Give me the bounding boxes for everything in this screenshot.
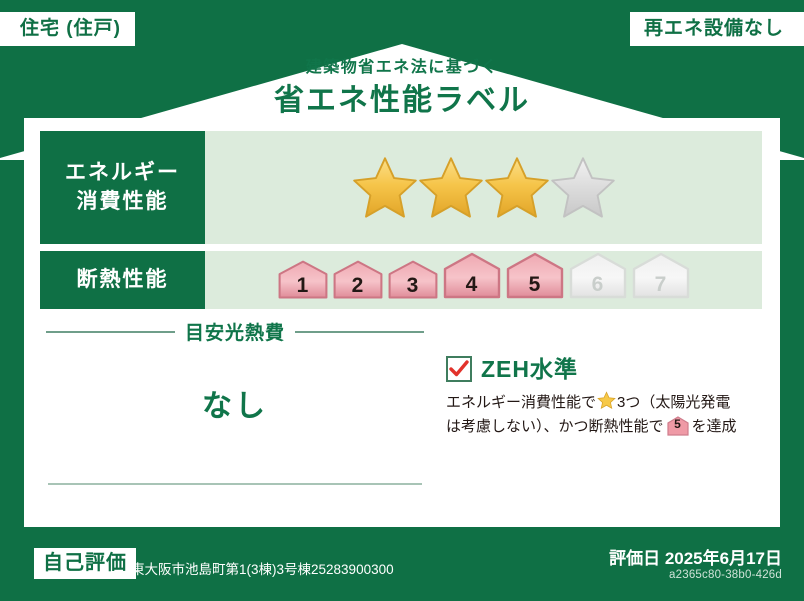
star-icon-filled [484, 155, 550, 221]
lower-section: 目安光熱費 なし ZEH水準 エネルギー消費性能で3つ（太陽光 [40, 318, 764, 513]
insulation-grade-2: 2 [332, 260, 384, 305]
tag-building-type: 住宅 (住戸) [0, 12, 135, 46]
energy-performance-label: 住宅 (住戸) 再エネ設備なし 建築物省エネ法に基づく 省エネ性能ラベル エネル… [0, 0, 804, 601]
row-energy-value [205, 131, 762, 244]
star-icon-filled [418, 155, 484, 221]
inline-grade-house-icon: 5 [667, 416, 689, 436]
zeh-desc-part1: エネルギー消費性能で [446, 394, 596, 411]
insulation-grade-5: 5 [505, 252, 565, 305]
insulation-grade-1: 1 [277, 260, 329, 305]
star-rating [352, 155, 616, 221]
insulation-grade-number: 6 [568, 274, 628, 295]
utility-cost-bottom-rule [48, 483, 422, 485]
insulation-grade-7: 7 [631, 252, 691, 305]
zeh-title: ZEH水準 [481, 358, 578, 381]
zeh-desc-part2: は考慮しない）、かつ断熱性能で [446, 418, 664, 435]
utility-cost-heading-text: 目安光熱費 [185, 318, 285, 345]
row-energy-label-line1: エネルギー [65, 159, 180, 187]
insulation-grade-4: 4 [442, 252, 502, 305]
insulation-grade-6: 6 [568, 252, 628, 305]
star-icon [597, 391, 616, 410]
rating-rows: エネルギー 消費性能 断熱性能 1234567 [40, 131, 762, 316]
insulation-grade-number: 4 [442, 274, 502, 295]
heading-rule-right [295, 331, 424, 333]
tag-renewable-equipment: 再エネ設備なし [630, 12, 804, 46]
property-address: 東大阪市池島町第1(3棟)3号棟25283900300 [131, 558, 394, 578]
utility-cost-heading: 目安光熱費 [40, 318, 430, 345]
label-title-block: 建築物省エネ法に基づく 省エネ性能ラベル [0, 58, 804, 119]
title-subtitle: 建築物省エネ法に基づく [0, 58, 804, 77]
insulation-grade-number: 5 [505, 274, 565, 295]
row-insulation-value: 1234567 [205, 251, 762, 309]
insulation-grade-scale: 1234567 [277, 252, 691, 308]
row-energy-performance: エネルギー 消費性能 [40, 131, 762, 244]
zeh-heading: ZEH水準 [446, 356, 764, 382]
star-icon-filled [352, 155, 418, 221]
check-icon [449, 360, 469, 378]
evaluation-id: a2365c80-38b0-426d [669, 569, 782, 581]
row-insulation-label-line1: 断熱性能 [77, 266, 169, 294]
star-icon-empty [550, 155, 616, 221]
row-energy-label: エネルギー 消費性能 [40, 131, 205, 244]
evaluation-date: 評価日 2025年6月17日 [609, 544, 782, 569]
title-main: 省エネ性能ラベル [0, 83, 804, 119]
self-evaluation-badge: 自己評価 [34, 548, 136, 579]
zeh-block: ZEH水準 エネルギー消費性能で3つ（太陽光発電は考慮しない）、かつ断熱性能で5… [430, 318, 764, 513]
row-insulation-performance: 断熱性能 1234567 [40, 251, 762, 309]
row-energy-label-line2: 消費性能 [77, 188, 169, 216]
utility-cost-value: なし [40, 381, 430, 425]
insulation-grade-number: 1 [277, 275, 329, 296]
zeh-desc-star-count: 3つ（太陽光発電 [617, 394, 730, 411]
zeh-checkbox [446, 356, 472, 382]
label-card-body: エネルギー 消費性能 断熱性能 1234567 [24, 118, 780, 527]
utility-cost-block: 目安光熱費 なし [40, 318, 430, 513]
heading-rule-left [46, 331, 175, 333]
zeh-description: エネルギー消費性能で3つ（太陽光発電は考慮しない）、かつ断熱性能で5を達成 [446, 391, 764, 440]
insulation-grade-number: 2 [332, 275, 384, 296]
row-insulation-label: 断熱性能 [40, 251, 205, 309]
zeh-desc-part3: を達成 [692, 418, 737, 435]
insulation-grade-number: 3 [387, 275, 439, 296]
insulation-grade-3: 3 [387, 260, 439, 305]
insulation-grade-number: 7 [631, 274, 691, 295]
label-footer: 自己評価 東大阪市池島町第1(3棟)3号棟25283900300 評価日 202… [0, 527, 804, 601]
inline-grade-number: 5 [667, 415, 689, 434]
